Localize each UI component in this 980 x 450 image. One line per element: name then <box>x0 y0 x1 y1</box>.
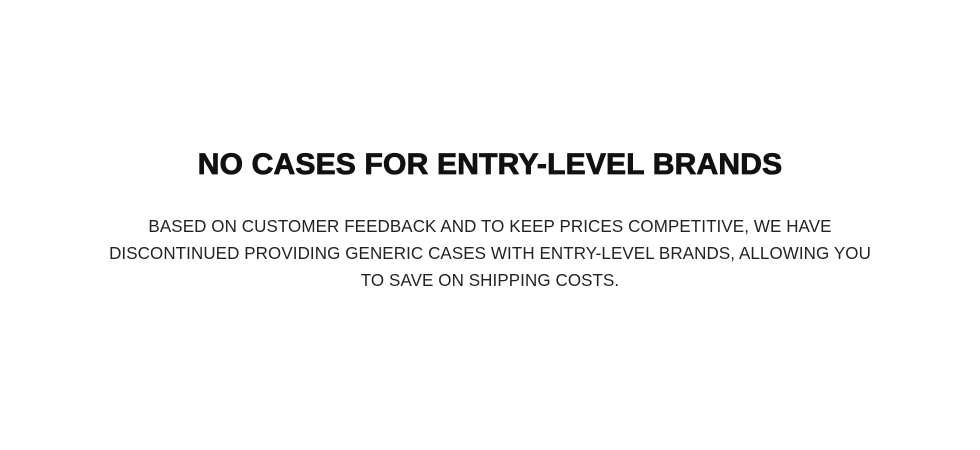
announcement-body-text: BASED ON CUSTOMER FEEDBACK AND TO KEEP P… <box>104 213 876 294</box>
announcement-heading: NO CASES FOR ENTRY-LEVEL BRANDS <box>198 148 783 182</box>
announcement-section: NO CASES FOR ENTRY-LEVEL BRANDS BASED ON… <box>0 0 980 450</box>
